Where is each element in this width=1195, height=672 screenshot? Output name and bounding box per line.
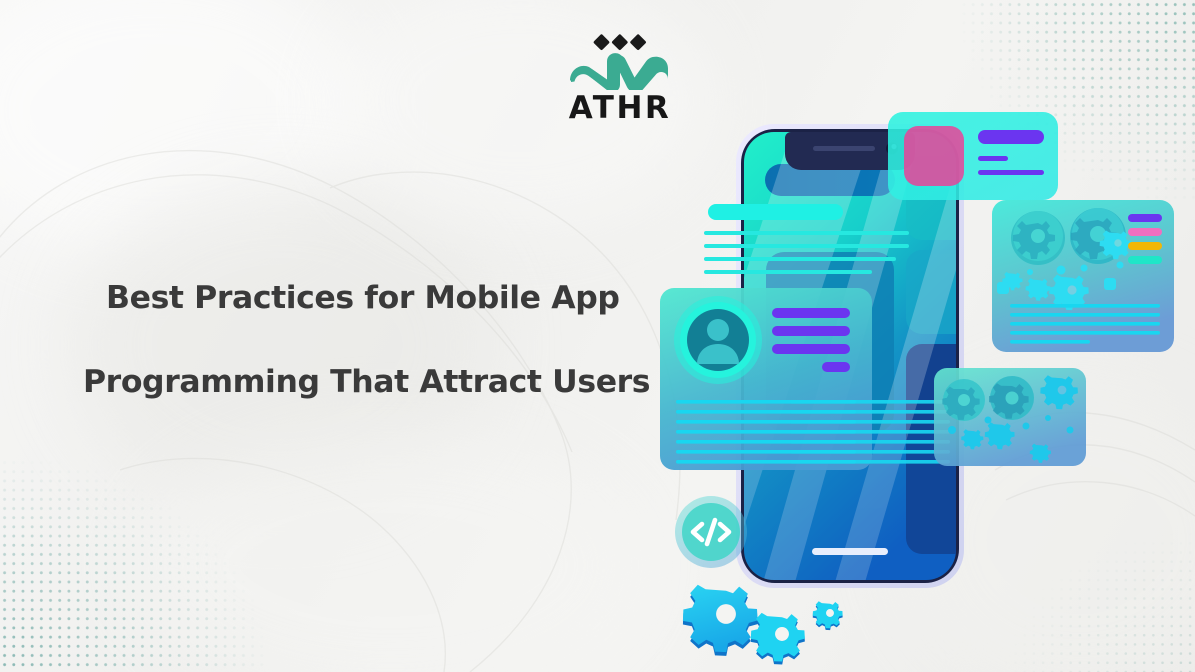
notification-title-bar	[978, 130, 1044, 144]
gear-cluster	[683, 585, 843, 665]
avatar	[674, 296, 762, 384]
halftone-pattern-bottom-left	[0, 412, 330, 672]
paper-smudge	[0, 0, 370, 260]
page-title-line-2: Programming That Attract Users	[83, 367, 666, 399]
notification-thumbnail	[904, 126, 964, 186]
gear-badge	[1011, 211, 1065, 265]
phone-speaker-icon	[813, 146, 875, 151]
mobile-app-development-illustration	[640, 100, 1195, 672]
page-title-line-1: Best Practices for Mobile App	[106, 283, 666, 315]
settings-card	[992, 200, 1174, 352]
paper-smudge	[140, 430, 640, 672]
code-badge	[675, 496, 747, 568]
athr-zigzag-mark-icon	[567, 34, 673, 90]
notification-card	[888, 112, 1058, 200]
page-title: Best Practices for Mobile App Programmin…	[106, 283, 666, 398]
mini-gear-card	[934, 368, 1086, 466]
phone-home-indicator	[812, 548, 888, 555]
